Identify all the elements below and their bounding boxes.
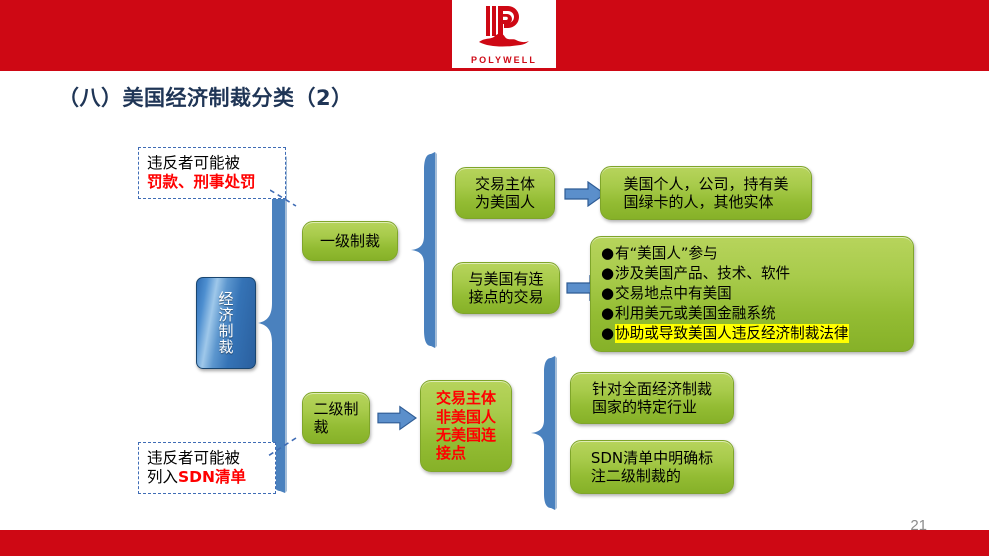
node-l1-us-nexus[interactable]: 与美国有连 接点的交易 [452, 262, 560, 314]
node-level-2[interactable]: 二级制 裁 [302, 392, 370, 444]
polywell-p-logo [478, 2, 530, 55]
node-l2-result-sdn-label: SDN清单中明确标 注二级制裁的 [591, 449, 713, 486]
bullet-icon: ● [601, 324, 615, 344]
node-l1-result-line2: 国绿卡的人，其他实体 [623, 193, 773, 211]
brand-logo: POLYWELL [452, 0, 556, 68]
node-l2-condition-line1: 交易主体 [436, 389, 496, 407]
list-item-text-highlighted: 协助或导致美国人违反经济制裁法律 [615, 324, 849, 343]
connector-penalty [270, 186, 302, 210]
note-penalty-line1: 违反者可能被 [147, 154, 277, 173]
note-sdn-line1: 违反者可能被 [147, 449, 267, 468]
header-underline [0, 68, 989, 71]
node-l2-result-sdn-line1: SDN清单中明确标 [591, 449, 713, 467]
list-item: ● 交易地点中有美国 [601, 284, 903, 304]
node-l1-subject-line1: 交易主体 [475, 175, 535, 193]
node-l1-result-line1: 美国个人，公司，持有美 [623, 175, 788, 193]
list-item: ● 利用美元或美国金融系统 [601, 304, 903, 324]
note-penalty-line2: 罚款、刑事处罚 [147, 173, 277, 192]
page-title: （八）美国经济制裁分类（2） [58, 82, 353, 112]
bullet-icon: ● [601, 264, 615, 284]
node-l2-result-sdn[interactable]: SDN清单中明确标 注二级制裁的 [570, 440, 734, 494]
footer-bar [0, 530, 989, 556]
note-penalty: 违反者可能被 罚款、刑事处罚 [138, 147, 286, 199]
bullet-icon: ● [601, 304, 615, 324]
brace-level2-split [522, 356, 558, 510]
node-l2-result-sectors-line1: 针对全面经济制裁 [592, 380, 712, 398]
node-level-1[interactable]: 一级制裁 [302, 221, 398, 261]
connector-sdn [266, 436, 302, 460]
brace-level1-split [402, 152, 438, 348]
note-sdn-line2: 列入SDN清单 [147, 468, 267, 487]
node-l1-subject-label: 交易主体 为美国人 [475, 175, 535, 212]
note-sdn: 违反者可能被 列入SDN清单 [138, 442, 276, 494]
node-l2-condition-label: 交易主体 非美国人 无美国连 接点 [436, 389, 496, 462]
node-l2-result-sectors-label: 针对全面经济制裁 国家的特定行业 [592, 380, 712, 417]
node-l1-subject-us-person[interactable]: 交易主体 为美国人 [455, 167, 555, 219]
bullet-icon: ● [601, 244, 615, 264]
bullet-icon: ● [601, 284, 615, 304]
node-l1-result-nexus-list[interactable]: ● 有“美国人”参与 ● 涉及美国产品、技术、软件 ● 交易地点中有美国 ● 利… [590, 236, 914, 352]
header-band-left [0, 0, 452, 68]
node-l2-result-sectors-line2: 国家的特定行业 [592, 398, 697, 416]
node-l2-result-sdn-line2: 注二级制裁的 [591, 467, 681, 485]
node-l2-condition-line4: 接点 [436, 444, 466, 462]
node-level-2-label: 二级制 裁 [313, 400, 358, 437]
node-level-2-line2: 裁 [313, 418, 328, 436]
list-item-text: 有“美国人”参与 [615, 244, 718, 263]
note-sdn-line2-plain: 列入 [147, 468, 178, 486]
node-l2-result-sectors[interactable]: 针对全面经济制裁 国家的特定行业 [570, 372, 734, 424]
slide: POLYWELL （八）美国经济制裁分类（2） 违反者可能被 罚款、刑事处罚 违… [0, 0, 989, 556]
list-item-text: 涉及美国产品、技术、软件 [615, 264, 790, 283]
node-l2-condition[interactable]: 交易主体 非美国人 无美国连 接点 [420, 380, 512, 472]
node-l1-nexus-line2: 接点的交易 [468, 288, 543, 306]
list-item: ● 涉及美国产品、技术、软件 [601, 264, 903, 284]
note-sdn-line2-red: SDN清单 [178, 468, 246, 486]
node-l1-result-label: 美国个人，公司，持有美 国绿卡的人，其他实体 [623, 175, 788, 212]
nexus-bullet-list: ● 有“美国人”参与 ● 涉及美国产品、技术、软件 ● 交易地点中有美国 ● 利… [601, 244, 903, 344]
node-l1-result-us-persons[interactable]: 美国个人，公司，持有美 国绿卡的人，其他实体 [600, 166, 812, 220]
node-l2-condition-line2: 非美国人 [436, 408, 496, 426]
node-l1-nexus-label: 与美国有连 接点的交易 [468, 270, 543, 307]
brand-name: POLYWELL [471, 55, 537, 65]
node-l1-nexus-line1: 与美国有连 [468, 270, 543, 288]
list-item: ● 有“美国人”参与 [601, 244, 903, 264]
arrow-right-3 [377, 405, 417, 431]
root-node-label: 经 济 制 裁 [218, 291, 233, 356]
list-item-text: 利用美元或美国金融系统 [615, 304, 776, 323]
root-node-economic-sanctions[interactable]: 经 济 制 裁 [196, 277, 256, 369]
node-level-2-line1: 二级制 [313, 400, 358, 418]
node-l2-condition-line3: 无美国连 [436, 426, 496, 444]
node-level-1-label: 一级制裁 [320, 232, 380, 250]
root-char-4: 裁 [218, 338, 233, 356]
node-l1-subject-line2: 为美国人 [475, 193, 535, 211]
header-band-right [556, 0, 989, 68]
list-item: ● 协助或导致美国人违反经济制裁法律 [601, 324, 903, 344]
list-item-text: 交易地点中有美国 [615, 284, 732, 303]
